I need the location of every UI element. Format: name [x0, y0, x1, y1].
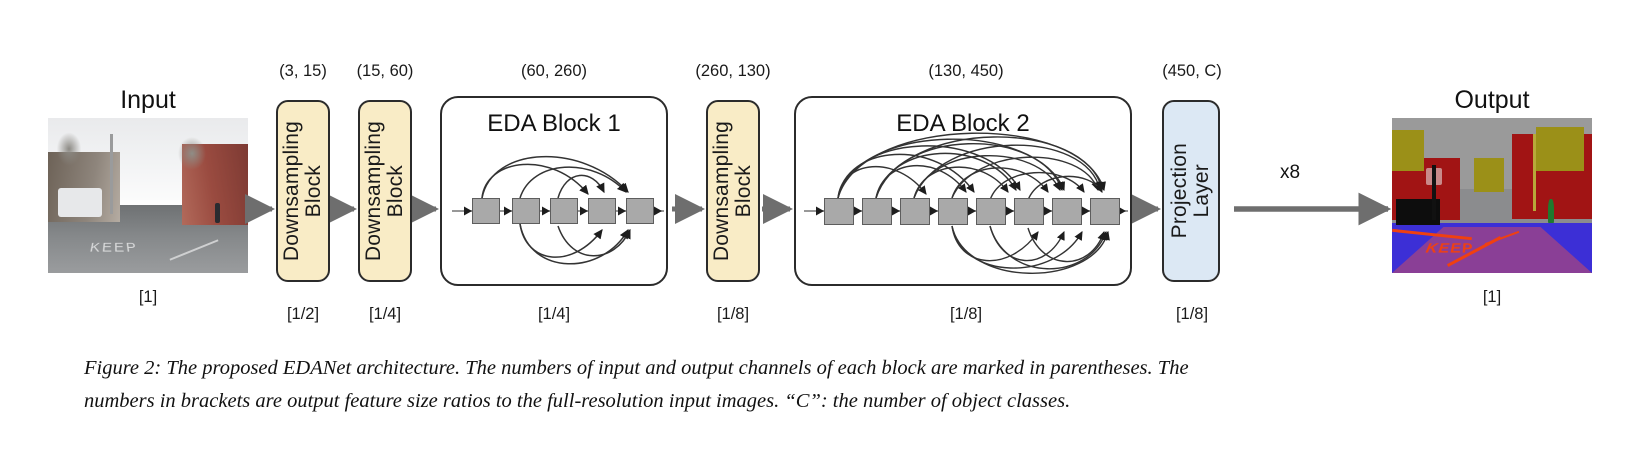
eda-unit	[976, 198, 1006, 225]
downsampling-block-2: Downsampling Block	[358, 100, 412, 282]
eda-block-1-channels: (60, 260)	[521, 62, 587, 81]
figure-caption-line-1: Figure 2: The proposed EDANet architectu…	[84, 352, 1554, 385]
projection-layer-label-line1: Projection	[1169, 143, 1191, 238]
projection-layer-ratio: [1/8]	[1176, 305, 1208, 324]
eda-unit	[626, 198, 654, 224]
downsampling-1-label-line2: Block	[303, 165, 325, 217]
downsampling-3-label-line1: Downsampling	[711, 121, 733, 261]
eda-block-2: EDA Block 2	[794, 96, 1132, 286]
downsampling-block-3: Downsampling Block	[706, 100, 760, 282]
eda-block-2-ratio: [1/8]	[950, 305, 982, 324]
eda-block-1: EDA Block 1	[440, 96, 668, 286]
eda-unit	[1090, 198, 1120, 225]
figure-caption: Figure 2: The proposed EDANet architectu…	[84, 352, 1554, 418]
projection-layer-label-line2: Layer	[1191, 164, 1213, 218]
eda-block-2-channels: (130, 450)	[928, 62, 1003, 81]
output-vegetation-left-class	[1392, 130, 1424, 170]
eda-unit	[862, 198, 892, 225]
downsampling-3-ratio: [1/8]	[717, 305, 749, 324]
figure-caption-line-2: numbers in brackets are output feature s…	[84, 385, 1554, 418]
output-pedestrian-class	[1548, 199, 1554, 224]
downsampling-2-label-line2: Block	[385, 165, 407, 217]
downsampling-2-ratio: [1/4]	[369, 305, 401, 324]
downsampling-1-label-line1: Downsampling	[281, 121, 303, 261]
eda-unit	[1052, 198, 1082, 225]
eda-unit	[512, 198, 540, 224]
output-pole-left-class	[1432, 165, 1436, 221]
eda-unit	[1014, 198, 1044, 225]
downsampling-3-label-line2: Block	[733, 165, 755, 217]
eda-block-1-connections	[442, 98, 670, 288]
figure-eda-net-architecture: Input KEEP [1]	[0, 0, 1631, 470]
output-keep-marking: KEEP	[1424, 241, 1475, 257]
eda-unit	[900, 198, 930, 225]
projection-layer-block: Projection Layer	[1162, 100, 1220, 282]
eda-unit	[824, 198, 854, 225]
downsampling-2-label-line1: Downsampling	[363, 121, 385, 261]
output-image: KEEP	[1392, 118, 1592, 273]
eda-unit	[472, 198, 500, 224]
downsampling-1-channels: (3, 15)	[279, 62, 327, 81]
eda-unit	[550, 198, 578, 224]
eda-unit	[588, 198, 616, 224]
eda-unit	[938, 198, 968, 225]
output-ratio-label: [1]	[1483, 288, 1501, 307]
downsampling-3-channels: (260, 130)	[695, 62, 770, 81]
downsampling-1-ratio: [1/2]	[287, 305, 319, 324]
downsampling-block-1: Downsampling Block	[276, 100, 330, 282]
output-vegetation-center-class	[1474, 158, 1504, 192]
eda-block-2-connections	[796, 98, 1134, 288]
upsample-factor-label: x8	[1280, 162, 1300, 184]
output-panel-title: Output	[1454, 86, 1529, 115]
output-vegetation-right-class	[1536, 127, 1584, 170]
eda-block-1-ratio: [1/4]	[538, 305, 570, 324]
output-pole-right-class	[1533, 134, 1536, 212]
downsampling-2-channels: (15, 60)	[357, 62, 414, 81]
projection-layer-channels: (450, C)	[1162, 62, 1222, 81]
